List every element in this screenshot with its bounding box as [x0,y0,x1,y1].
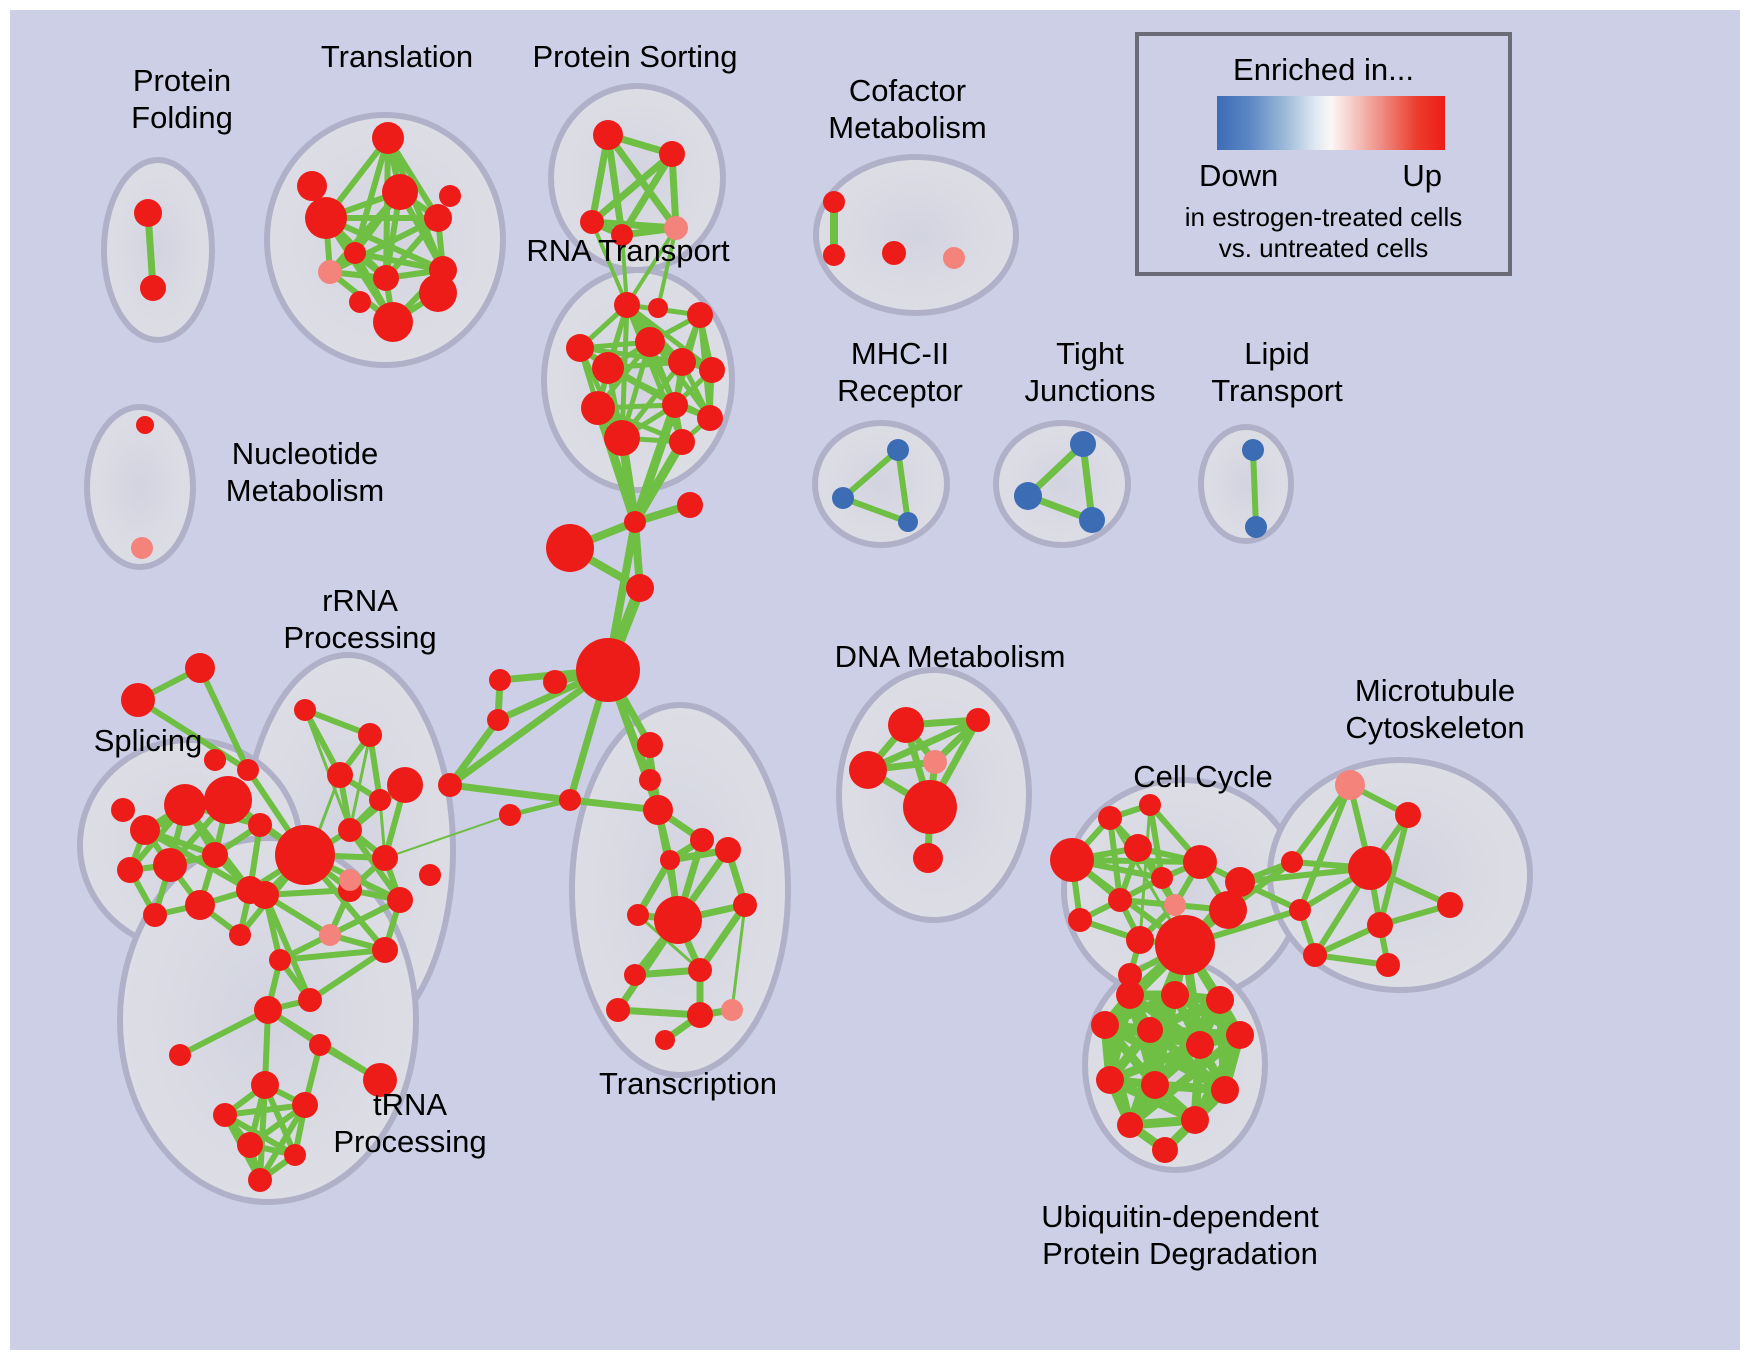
node [637,732,663,758]
node [140,275,166,301]
node [1137,1017,1163,1043]
node [1141,1071,1169,1099]
node [339,869,361,891]
node [943,247,965,269]
cluster-label-transcription: Transcription [578,1065,798,1102]
node [669,429,695,455]
node [576,638,640,702]
node [1070,431,1096,457]
cluster-label-translation: Translation [282,38,512,75]
node [690,828,714,852]
node [1289,899,1311,921]
node [627,904,649,926]
node [1068,908,1092,932]
node [1211,1076,1239,1104]
node [543,670,567,694]
node [655,1030,675,1050]
cluster-label-tight-junctions: Tight Junctions [995,335,1185,409]
node [318,260,342,284]
node [624,964,646,986]
node [643,795,673,825]
node [344,242,366,264]
node [284,1144,306,1166]
hull-transcription [572,705,788,1075]
node [294,699,316,721]
node [733,893,757,917]
node [626,574,654,602]
node [546,524,594,572]
node [382,174,418,210]
node [185,653,215,683]
cluster-label-rna-transport: RNA Transport [508,232,748,269]
node [721,999,743,1021]
node [1014,482,1042,510]
node [888,707,924,743]
node [1395,802,1421,828]
node [229,924,251,946]
node [136,416,154,434]
node [153,848,187,882]
node [659,141,685,167]
hull-cofactor-metabolism [816,157,1016,313]
node [1116,981,1144,1009]
node [687,1002,713,1028]
node [185,890,215,920]
node [117,857,143,883]
node [387,887,413,913]
node [131,537,153,559]
node [966,708,990,732]
node [373,302,413,342]
node [614,292,640,318]
node [1096,1066,1124,1094]
node [1242,439,1264,461]
node [237,1132,263,1158]
cluster-label-dna-metabolism: DNA Metabolism [820,638,1080,675]
node [164,784,206,826]
node [1437,892,1463,918]
node [580,210,604,234]
node [1079,507,1105,533]
node [1225,867,1255,897]
node [823,191,845,213]
cluster-label-trna-processing: tRNA Processing [310,1086,510,1160]
node [1050,838,1094,882]
node [237,759,259,781]
cluster-label-cofactor-metabolism: Cofactor Metabolism [800,72,1015,146]
node [297,171,327,201]
node [319,924,341,946]
node [887,439,909,461]
node [489,669,511,691]
node [1183,845,1217,879]
node [369,789,391,811]
node [1117,1112,1143,1138]
legend-low-label: Down [1199,158,1278,194]
node [372,845,398,871]
node [1335,770,1365,800]
node [566,334,594,362]
node [697,405,723,431]
cluster-label-rrna-processing: rRNA Processing [260,582,460,656]
node [213,1103,237,1127]
node [559,789,581,811]
node [1186,1031,1214,1059]
cluster-label-splicing: Splicing [68,722,228,759]
node [309,1034,331,1056]
node [372,937,398,963]
node [121,683,155,717]
node [338,818,362,842]
node [419,274,457,312]
node [1206,986,1234,1014]
hull-mhc-ii-receptor [815,423,947,545]
node [1151,867,1173,889]
node [1091,1011,1119,1039]
node [373,265,399,291]
node [1281,851,1303,873]
node [1367,912,1393,938]
node [823,244,845,266]
node [169,1044,191,1066]
node [372,122,404,154]
node [275,825,335,885]
node [305,197,347,239]
node [1164,894,1186,916]
node [438,773,462,797]
node [654,896,702,944]
node [349,291,371,313]
node [1098,806,1122,830]
node [715,837,741,863]
node [1152,1137,1178,1163]
legend-caption: in estrogen-treated cells vs. untreated … [1139,202,1508,264]
node [1303,943,1327,967]
node [327,762,353,788]
legend-color-gradient-bar [1217,96,1445,150]
node [624,511,646,533]
node [581,391,615,425]
node [134,199,162,227]
node [419,864,441,886]
node [254,996,282,1024]
node [1226,1021,1254,1049]
node [639,769,661,791]
node [699,357,725,383]
node [913,843,943,873]
node [1245,516,1267,538]
node [251,881,279,909]
node [251,1071,279,1099]
node [849,751,887,789]
network-figure-canvas: Protein Folding Translation Protein Sort… [10,10,1740,1350]
node [130,815,160,845]
cluster-label-microtubule-cytoskeleton: Microtubule Cytoskeleton [1310,672,1560,746]
cluster-label-cell-cycle: Cell Cycle [1108,758,1298,795]
node [1124,834,1152,862]
node [1155,915,1215,975]
node [660,850,680,870]
legend-high-label: Up [1402,158,1442,194]
node [248,1168,272,1192]
cluster-label-protein-folding: Protein Folding [82,62,282,136]
node [358,723,382,747]
node [687,302,713,328]
node [1376,953,1400,977]
node [688,958,712,982]
node [832,487,854,509]
node [248,813,272,837]
node [1139,794,1161,816]
node [424,204,452,232]
node [143,903,167,927]
hull-protein-folding [104,160,212,340]
node [111,798,135,822]
node [269,949,291,971]
node [1181,1106,1209,1134]
node [604,420,640,456]
node [903,780,957,834]
node [592,352,624,384]
node [606,998,630,1022]
legend-box: Enriched in... Down Up in estrogen-treat… [1135,32,1512,276]
node [635,327,665,357]
node [1348,846,1392,890]
node [898,512,918,532]
cluster-label-nucleotide-metabolism: Nucleotide Metabolism [200,435,410,509]
cluster-label-protein-sorting: Protein Sorting [510,38,760,75]
node [487,709,509,731]
legend-title: Enriched in... [1139,52,1508,88]
node [668,348,696,376]
node [882,241,906,265]
node [298,988,322,1012]
node [1161,981,1189,1009]
node [499,804,521,826]
cluster-label-ubiquitin-degradation: Ubiquitin-dependent Protein Degradation [990,1198,1370,1272]
cluster-label-mhc-ii-receptor: MHC-II Receptor [800,335,1000,409]
node [439,185,461,207]
node [202,842,228,868]
node [1108,888,1132,912]
node [204,776,252,824]
node [662,392,688,418]
cluster-label-lipid-transport: Lipid Transport [1182,335,1372,409]
node [677,492,703,518]
node [923,750,947,774]
node [387,767,423,803]
node [593,120,623,150]
hull-tight-junctions [996,423,1128,545]
node [648,298,668,318]
node [1126,926,1154,954]
